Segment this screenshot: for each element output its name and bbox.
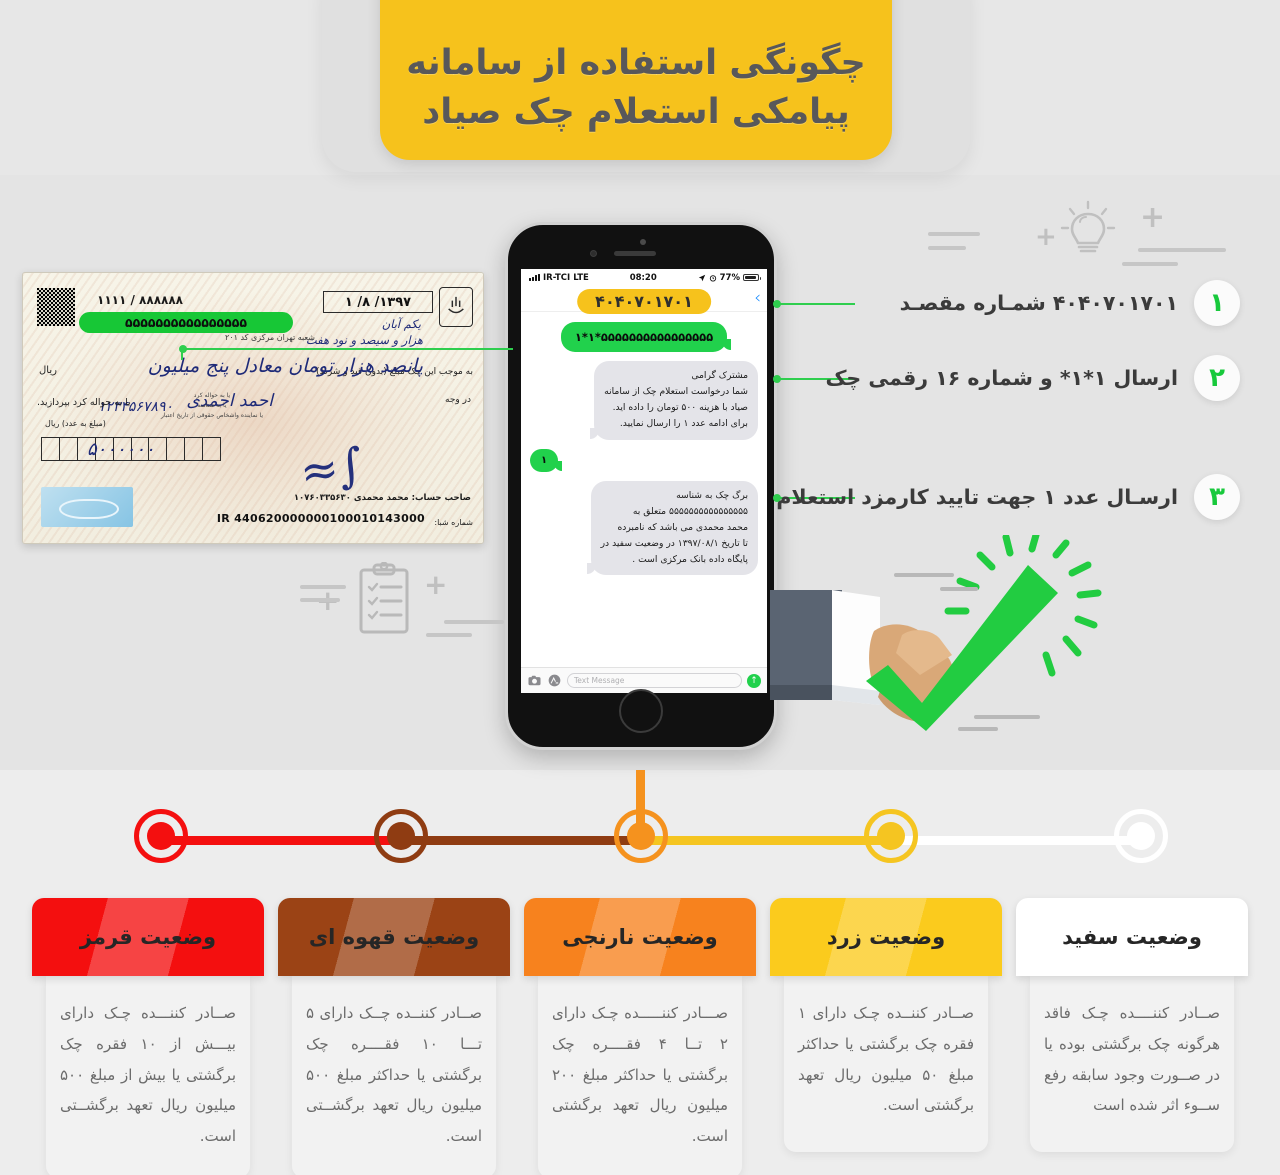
message-line: تا تاریخ ۱۳۹۷/۰۸/۱ در وضعیت سفید در <box>601 536 748 552</box>
step-item-1: ۱ ۴۰۴۰۷۰۱۷۰۱ شمـاره مقصـد <box>880 280 1240 326</box>
message-line: پایگاه داده بانک مرکزی است . <box>601 552 748 568</box>
message-line: برگ چک به شناسه <box>601 488 748 504</box>
status-card-red: وضعیت قرمز صــادر کننـــده چـک دارای بیـ… <box>32 898 264 1175</box>
cheque-signature: ∫≈ <box>297 437 366 499</box>
status-card-body: صــادر کننـــده چـک دارای بیـــش از ۱۰ ف… <box>46 976 250 1175</box>
plus-icon: + <box>1140 200 1165 235</box>
front-camera-icon <box>590 250 597 257</box>
cheque-small-label-2: یا به شناسه <box>161 401 263 411</box>
decor-line <box>444 620 504 624</box>
lightbulb-icon <box>1060 200 1116 262</box>
cheque-owner-name: محمد محمدی <box>354 493 409 503</box>
decor-line <box>300 598 340 602</box>
status-card-orange: وضعیت نارنجی صـــادر کننـــــده چـک دارا… <box>524 898 756 1175</box>
decor-line <box>928 232 980 236</box>
app-store-icon[interactable] <box>547 673 562 688</box>
title-line-1: چگونگی استفاده از سامانه <box>406 39 866 89</box>
title-line-2: پیامکی استعلام چک صیاد <box>406 88 866 138</box>
step-number-badge: ۲ <box>1194 355 1240 401</box>
step-number-badge: ۳ <box>1194 474 1240 520</box>
page-title: چگونگی استفاده از سامانه پیامکی استعلام … <box>406 39 866 138</box>
battery-icon <box>743 274 759 282</box>
status-card-title: وضعیت قرمز <box>80 925 216 949</box>
status-card-title: وضعیت نارنجی <box>562 925 717 949</box>
page-title-card: چگونگی استفاده از سامانه پیامکی استعلام … <box>380 0 892 160</box>
messages-navbar: ‹ ۴۰۴۰۷۰۱۷۰۱ <box>521 286 767 312</box>
cheque-amount-digits: ۵۰۰۰۰۰۰ <box>87 439 155 460</box>
signal-bars-icon <box>529 274 540 281</box>
hand-holding-checkmark-icon <box>770 535 1120 735</box>
clipboard-checklist-icon <box>355 562 413 636</box>
sender-number-badge: ۴۰۴۰۷۰۱۷۰۱ <box>577 289 711 314</box>
carrier-name: IR-TCI <box>543 273 570 283</box>
cheque-branch: شعبه تهران مرکزی کد ۲۰۱ <box>225 333 315 342</box>
timeline-segment-brown <box>400 836 640 845</box>
status-card-header: وضعیت قهوه ای <box>278 898 510 976</box>
status-card-body: صــادر کننــــده چـک فاقد هرگونه چک برگش… <box>1030 976 1234 1152</box>
timeline-dot-red[interactable] <box>134 809 188 863</box>
location-arrow-icon <box>698 274 706 282</box>
message-line: شما درخواست استعلام چک از سامانه <box>604 384 748 400</box>
cheque-iban: IR 440620000000100010143000 <box>217 512 425 525</box>
cheque-payto-label: در وجه <box>445 395 471 405</box>
status-card-header: وضعیت سفید <box>1016 898 1248 976</box>
message-line: محمد محمدی می باشد که نامبرده <box>601 520 748 536</box>
camera-icon[interactable] <box>527 673 542 688</box>
decor-line <box>1122 262 1178 266</box>
cheque-date: ۱۳۹۷/ ۸/ ۱ <box>323 291 433 313</box>
cheque-small-labels: یا به حواله کرد یا به شناسه یا نماینده و… <box>161 391 263 422</box>
step-label: ارسال ۱*۱* و شماره ۱۶ رقمی چک <box>825 366 1178 390</box>
timeline-segment-white <box>890 836 1140 845</box>
cheque-date-words-1: یکم آبان <box>382 317 421 331</box>
network-type: LTE <box>573 273 589 283</box>
decor-line <box>1138 248 1226 252</box>
status-card-yellow: وضعیت زرد صــادر کننــده چـک دارای ۱ فقر… <box>770 898 1002 1152</box>
status-bar: IR-TCI LTE 08:20 77% <box>521 269 767 286</box>
decor-line <box>426 633 472 637</box>
message-bubble-confirm: ۱ <box>530 449 558 473</box>
proximity-sensor-icon <box>640 239 646 245</box>
cheque-owner: صاحب حساب: محمد محمدی ۱۰۷۶۰۳۳۵۶۳۰ <box>294 493 471 503</box>
status-card-header: وضعیت زرد <box>770 898 1002 976</box>
message-line: مشترک گرامی <box>604 368 748 384</box>
timeline-dot-yellow[interactable] <box>864 809 918 863</box>
alarm-icon <box>709 274 717 282</box>
infographic-page: چگونگی استفاده از سامانه پیامکی استعلام … <box>0 0 1280 1175</box>
cheque-owner-label: صاحب حساب: <box>412 493 471 503</box>
status-bar-left: IR-TCI LTE <box>529 273 589 283</box>
hologram-icon <box>41 487 133 527</box>
plus-icon: + <box>424 568 447 601</box>
connector-cheque-to-phone <box>183 348 513 350</box>
connector-step-1 <box>777 303 855 305</box>
status-card-header: وضعیت قرمز <box>32 898 264 976</box>
message-thread[interactable]: ۱*۱*۵۵۵۵۵۵۵۵۵۵۵۵۵۵۵۵ مشترک گرامی شما درخ… <box>521 312 767 667</box>
timeline-segment-red <box>160 836 400 845</box>
phone-mockup: IR-TCI LTE 08:20 77% ‹ ۴۰۴۰۷۰۱۷۰۱ ۱*۱*۵۵… <box>505 222 777 750</box>
cheque-small-label-3: یا نماینده واشخاص حقوقی از تاریخ اعتبار <box>161 411 263 421</box>
status-bar-time: 08:20 <box>589 273 698 283</box>
status-card-header: وضعیت نارنجی <box>524 898 756 976</box>
cheque-iban-label: شماره شبا: <box>434 518 473 527</box>
cheque-owner-account: ۱۰۷۶۰۳۳۵۶۳۰ <box>294 493 351 503</box>
cheque-small-label-1: یا به حواله کرد <box>161 391 263 401</box>
battery-percentage: 77% <box>720 273 740 283</box>
connector-cheque-stub <box>181 348 183 360</box>
cheque-sayad-id: ۵۵۵۵۵۵۵۵۵۵۵۵۵۵۵۵ <box>79 312 293 333</box>
message-line: ۵۵۵۵۵۵۵۵۵۵۵۵۵۵۵۵ متعلق به <box>601 504 748 520</box>
cheque-rial-label: ریال <box>39 365 57 376</box>
status-bar-right: 77% <box>698 273 759 283</box>
timeline-segment-orange <box>640 836 890 845</box>
timeline-dot-brown[interactable] <box>374 809 428 863</box>
step-item-2: ۲ ارسال ۱*۱* و شماره ۱۶ رقمی چک <box>880 355 1240 401</box>
status-card-white: وضعیت سفید صــادر کننــــده چـک فاقد هرگ… <box>1016 898 1248 1152</box>
cheque-date-words-2: هزار و سیصد و نود هفت <box>306 333 423 347</box>
decor-line <box>300 585 346 589</box>
status-card-title: وضعیت زرد <box>827 925 945 949</box>
bank-logo-icon <box>439 287 473 327</box>
cheque-havale-text: یا به حواله کرد بپردازید. <box>37 397 131 408</box>
cheque-serial-number: ۱۱۱۱ / ۸۸۸۸۸۸ <box>97 293 183 307</box>
message-line: برای ادامه عدد ۱ را ارسال نمایید. <box>604 416 748 432</box>
step-label: ۴۰۴۰۷۰۱۷۰۱ شمـاره مقصـد <box>900 291 1178 315</box>
message-input-field[interactable]: Text Message <box>567 673 742 688</box>
cheque-image: ۱۱۱۱ / ۸۸۸۸۸۸ ۵۵۵۵۵۵۵۵۵۵۵۵۵۵۵۵ ۱۳۹۷/ ۸/ … <box>22 272 484 544</box>
message-bubble-result: برگ چک به شناسه ۵۵۵۵۵۵۵۵۵۵۵۵۵۵۵۵ متعلق ب… <box>591 481 758 575</box>
status-card-title: وضعیت سفید <box>1062 925 1202 949</box>
cheque-amount-words: پانصد هزار تومان معادل پنج میلیون <box>148 355 423 377</box>
plus-icon: + <box>1035 222 1057 252</box>
send-arrow-icon[interactable]: ↑ <box>747 674 761 688</box>
cheque-amount-label: (مبلغ به عدد) ریال <box>45 419 106 428</box>
home-button[interactable] <box>619 689 663 733</box>
step-item-3: ۳ ارسـال عدد ۱ جهت تایید کارمزد استعلام <box>880 474 1240 520</box>
decor-line <box>928 246 966 250</box>
message-bubble-outgoing: ۱*۱*۵۵۵۵۵۵۵۵۵۵۵۵۵۵۵۵ <box>561 322 727 352</box>
status-card-body: صــادر کننــده چــک دارای ۵ تـــا ۱۰ فقـ… <box>292 976 496 1175</box>
earpiece-speaker <box>614 251 656 256</box>
status-card-body: صـــادر کننـــــده چـک دارای ۲ تــا ۴ فق… <box>538 976 742 1175</box>
step-label: ارسـال عدد ۱ جهت تایید کارمزد استعلام <box>776 485 1178 509</box>
status-card-brown: وضعیت قهوه ای صــادر کننــده چــک دارای … <box>278 898 510 1175</box>
timeline-dot-orange[interactable] <box>614 809 668 863</box>
back-button[interactable]: ‹ <box>754 290 761 307</box>
message-bubble-incoming: مشترک گرامی شما درخواست استعلام چک از سا… <box>594 361 758 439</box>
status-card-body: صــادر کننــده چـک دارای ۱ فقره چک برگشت… <box>784 976 988 1152</box>
phone-screen: IR-TCI LTE 08:20 77% ‹ ۴۰۴۰۷۰۱۷۰۱ ۱*۱*۵۵… <box>521 269 767 693</box>
qr-code-icon <box>37 288 75 326</box>
message-line: صیاد با هزینه ۵۰۰ تومان را داده اید. <box>604 400 748 416</box>
step-number-badge: ۱ <box>1194 280 1240 326</box>
status-card-title: وضعیت قهوه ای <box>309 925 479 949</box>
timeline-dot-white[interactable] <box>1114 809 1168 863</box>
